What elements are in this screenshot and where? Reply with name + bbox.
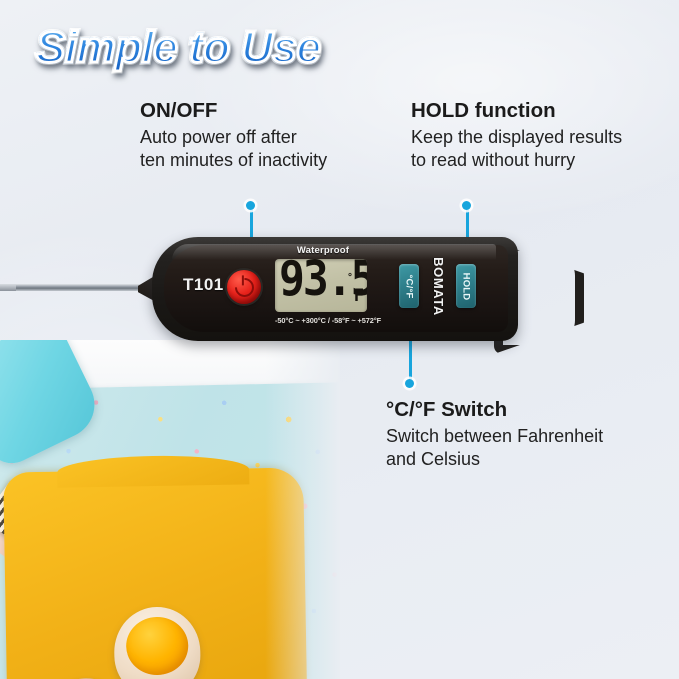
model-label: T101 (183, 275, 224, 295)
callout-hold-line2: to read without hurry (411, 149, 622, 172)
celsius-fahrenheit-button[interactable]: °C/°F (399, 264, 419, 308)
callout-hold: HOLD function Keep the displayed results… (411, 99, 622, 172)
callout-switch: °C/°F Switch Switch between Fahrenheit a… (386, 398, 603, 471)
egg-yolk (126, 616, 189, 675)
hold-button[interactable]: HOLD (456, 264, 476, 308)
power-button[interactable] (227, 270, 261, 304)
callout-switch-line2: and Celsius (386, 448, 603, 471)
callout-onoff: ON/OFF Auto power off after ten minutes … (140, 99, 327, 172)
callout-onoff-body: Auto power off after ten minutes of inac… (140, 126, 327, 173)
page-title: Simple to Use (36, 26, 320, 70)
brand-label: BOMATA (431, 257, 446, 316)
degree-symbol: ° (348, 273, 352, 283)
callout-switch-heading: °C/°F Switch (386, 398, 603, 422)
probe-tip (0, 284, 16, 291)
callout-onoff-line1: Auto power off after (140, 126, 327, 149)
leader-dot-switch (405, 379, 414, 388)
callout-onoff-heading: ON/OFF (140, 99, 327, 123)
callout-hold-body: Keep the displayed results to read witho… (411, 126, 622, 173)
waterproof-label: Waterproof (283, 245, 363, 256)
egg-carton (3, 467, 307, 679)
kitchen-photo (0, 340, 340, 679)
infographic-canvas: Simple to Use Simple to Use T101 Waterpr… (0, 0, 679, 679)
callout-switch-body: Switch between Fahrenheit and Celsius (386, 425, 603, 472)
leader-dot-hold (462, 201, 471, 210)
temperature-range-label: -50°C ~ +300°C / -58°F ~ +572°F (268, 316, 388, 325)
brand-logo: BOMATA (421, 260, 455, 312)
digital-thermometer: T101 Waterproof 93.5 ° F -50°C ~ +300°C … (0, 228, 570, 348)
leader-dot-onoff (246, 201, 255, 210)
temperature-unit: F (354, 288, 364, 305)
callout-onoff-line2: ten minutes of inactivity (140, 149, 327, 172)
power-icon (231, 274, 258, 301)
callout-hold-heading: HOLD function (411, 99, 622, 123)
callout-switch-line1: Switch between Fahrenheit (386, 425, 603, 448)
callout-hold-line1: Keep the displayed results (411, 126, 622, 149)
lcd-display: 93.5 ° F (275, 259, 367, 312)
cracked-egg-shell (114, 606, 202, 679)
hold-button-label: HOLD (461, 272, 472, 300)
celsius-fahrenheit-button-label: °C/°F (404, 274, 415, 298)
